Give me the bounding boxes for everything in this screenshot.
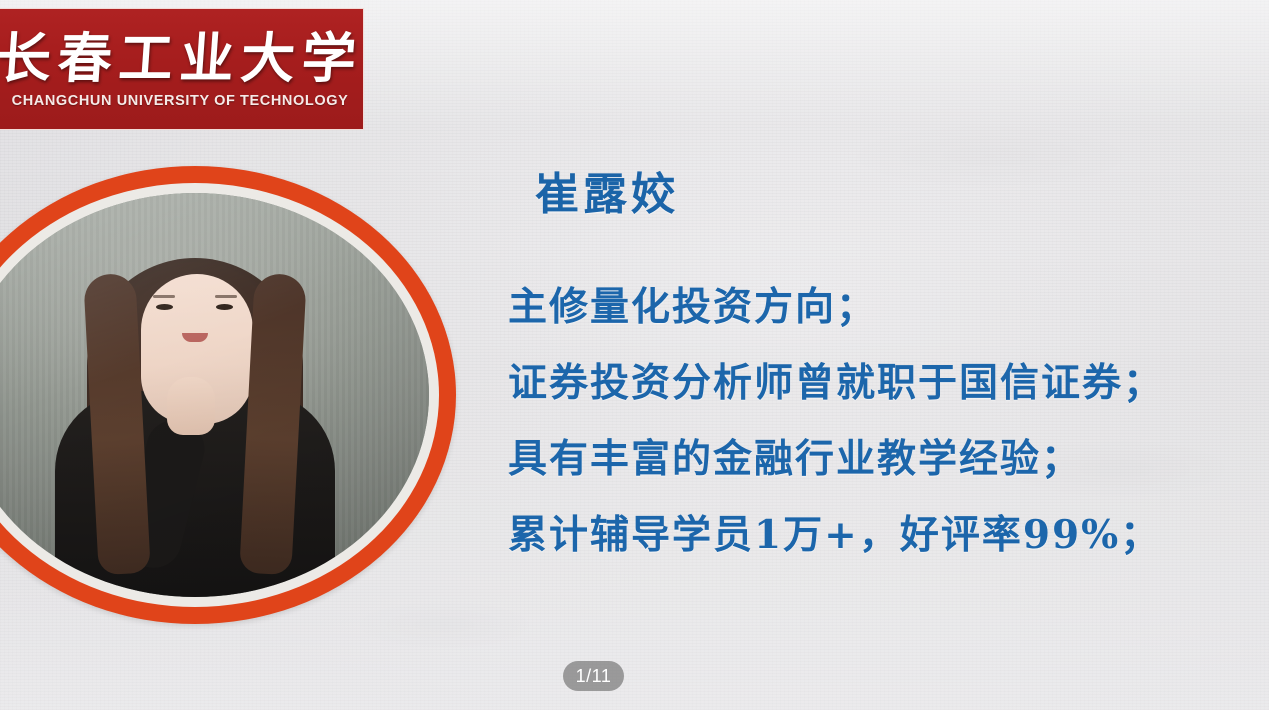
bio-line: 累计辅导学员1万+，好评率99%； xyxy=(508,516,1164,555)
bio-line: 主修量化投资方向； xyxy=(508,288,1164,327)
instructor-photo xyxy=(0,193,429,597)
university-name-chinese: 长春工业大学 xyxy=(0,31,365,85)
photo-eyebrow-right xyxy=(215,295,237,298)
bio-line: 证券投资分析师曾就职于国信证券； xyxy=(508,364,1164,403)
bio-line: 具有丰富的金融行业教学经验； xyxy=(508,440,1164,479)
university-logo-banner: 长春工业大学 CHANGCHUN UNIVERSITY OF TECHNOLOG… xyxy=(0,8,364,130)
portrait-ring xyxy=(0,166,456,624)
instructor-name: 崔露姣 xyxy=(535,158,679,222)
instructor-bio-list: 主修量化投资方向； 证券投资分析师曾就职于国信证券； 具有丰富的金融行业教学经验… xyxy=(508,288,1164,555)
slide-canvas: 长春工业大学 CHANGCHUN UNIVERSITY OF TECHNOLOG… xyxy=(0,0,1269,710)
portrait-inner-ring xyxy=(0,183,439,607)
page-indicator-badge: 1/11 xyxy=(563,661,624,691)
photo-eyebrow-left xyxy=(153,295,175,298)
photo-hand xyxy=(167,377,215,435)
university-name-english: CHANGCHUN UNIVERSITY OF TECHNOLOGY xyxy=(12,93,349,109)
